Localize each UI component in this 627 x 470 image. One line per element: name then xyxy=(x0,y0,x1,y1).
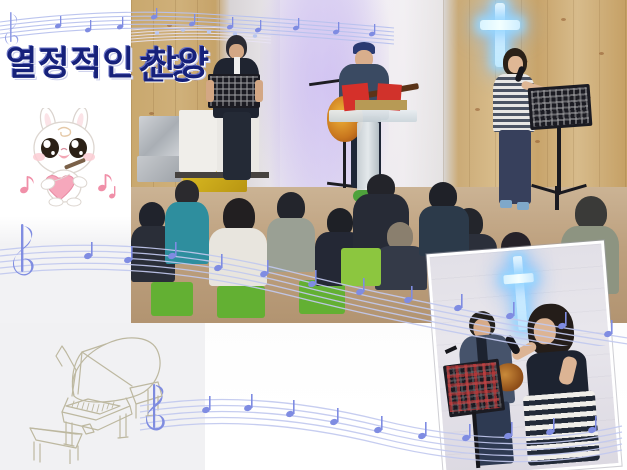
pink-music-note-right xyxy=(97,174,115,199)
podium-top xyxy=(329,110,417,122)
podium-plaque xyxy=(355,100,407,110)
inset-photo-duet xyxy=(426,240,621,470)
white-chair-1 xyxy=(179,110,217,172)
pink-music-note-left xyxy=(19,176,33,194)
page-title: 열정적인 찬양 xyxy=(6,36,210,85)
grand-piano-line-drawing xyxy=(22,322,192,464)
bunny-guitarist-mascot xyxy=(14,108,118,208)
silver-gift-box xyxy=(139,116,183,160)
green-bag xyxy=(341,248,381,286)
poster-canvas: 찬양 xyxy=(0,0,627,470)
